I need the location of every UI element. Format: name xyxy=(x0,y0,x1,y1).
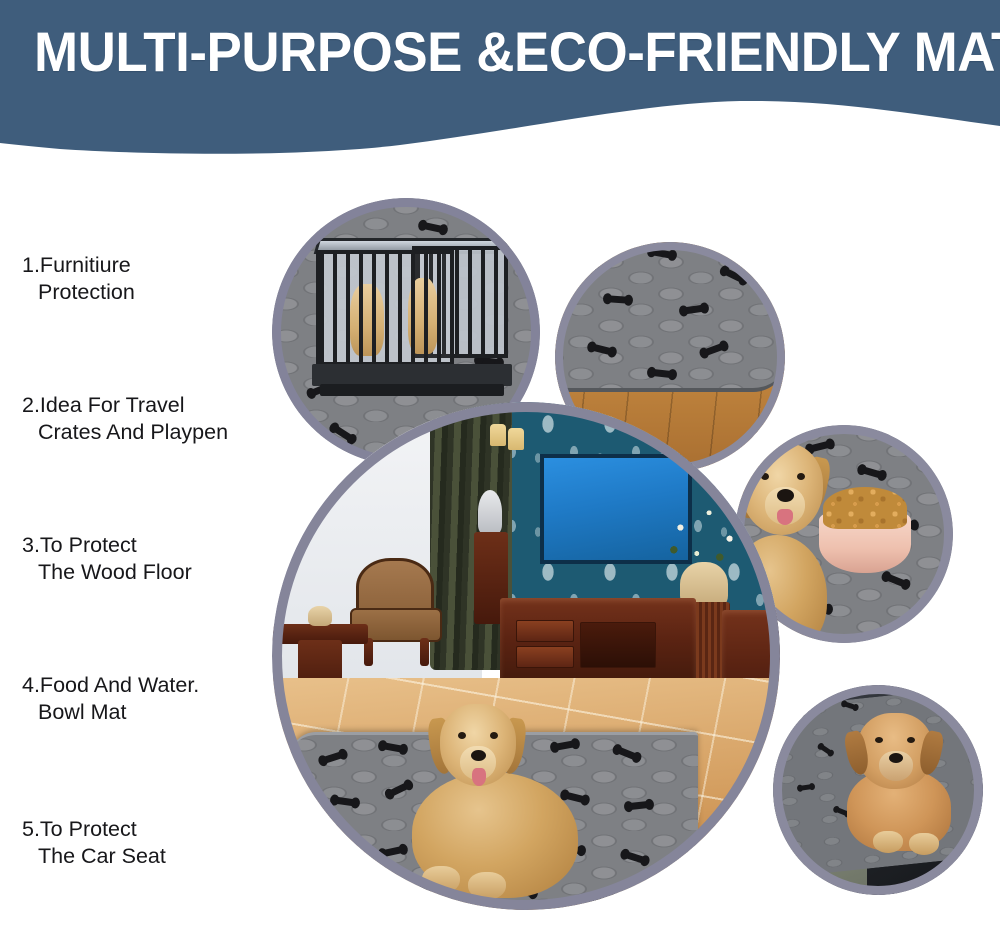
puppy-paw xyxy=(909,833,939,855)
bubble-car-seat-photo: Tan puppy resting on the bone-pattern ma… xyxy=(773,685,983,895)
bone-motif xyxy=(683,305,706,315)
table-ornament xyxy=(308,606,332,626)
flower-arrangement xyxy=(664,498,746,572)
infographic-page: MULTI-PURPOSE &ECO-FRIENDLY MAT 1.Furnit… xyxy=(0,0,1000,946)
dog-tongue xyxy=(472,768,486,786)
bone-motif xyxy=(628,801,651,810)
dog-paw xyxy=(468,872,506,900)
bone-motif xyxy=(799,784,812,790)
statue-bust xyxy=(478,490,502,534)
dog-eye xyxy=(797,473,805,480)
lamp-shade xyxy=(490,424,506,446)
puppy-nose xyxy=(889,753,903,763)
puppy-paw xyxy=(873,831,903,853)
dog-nose xyxy=(471,750,486,761)
dog-paw xyxy=(422,866,460,894)
bubble-living-room-photo: Golden retriever lying on the large gray… xyxy=(272,402,780,910)
living-room-scene xyxy=(272,402,780,910)
crate-base-rail xyxy=(320,384,504,396)
bone-motif xyxy=(607,295,629,304)
car-seat-scene xyxy=(773,685,983,895)
lamp-shade xyxy=(508,428,524,450)
armchair-leg xyxy=(420,638,429,666)
dog-eye xyxy=(458,732,466,739)
puppy-eye xyxy=(907,737,915,743)
dog-eye xyxy=(490,732,498,739)
photo-collage: Dog crate with golden retrievers standin… xyxy=(0,150,1000,946)
cabinet-drawer xyxy=(516,646,574,668)
puppy-eye xyxy=(875,737,883,743)
crate-front-bars xyxy=(316,250,454,366)
bone-motif xyxy=(651,369,674,378)
kibble-food xyxy=(823,487,907,529)
cabinet-drawer xyxy=(516,620,574,642)
cabinet-door xyxy=(580,622,656,668)
crate-base-tray xyxy=(312,364,512,386)
